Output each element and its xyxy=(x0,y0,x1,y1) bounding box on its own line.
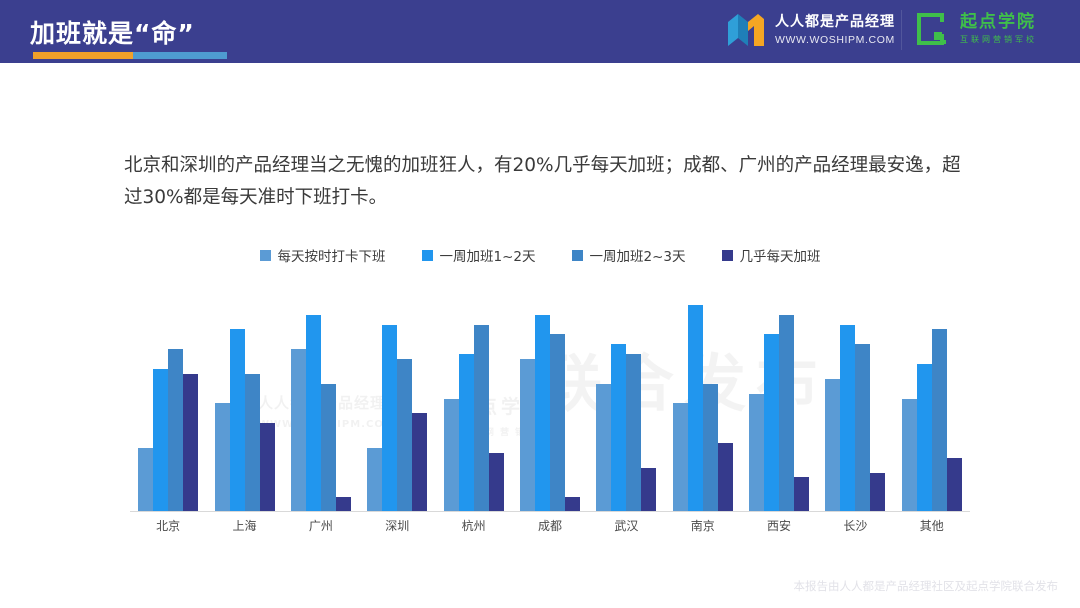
bar[interactable] xyxy=(306,315,321,512)
bar[interactable] xyxy=(291,349,306,512)
bar[interactable] xyxy=(673,403,688,512)
category-label-2: 广州 xyxy=(283,517,359,534)
legend-label: 几乎每天加班 xyxy=(740,245,821,265)
category-label-4: 杭州 xyxy=(435,517,511,534)
bar-group-10 xyxy=(894,290,970,512)
bar[interactable] xyxy=(703,384,718,512)
bar[interactable] xyxy=(565,497,580,512)
bar[interactable] xyxy=(749,394,764,512)
chart-plot-area xyxy=(130,290,970,512)
bar[interactable] xyxy=(550,334,565,512)
woshipm-m-logo-icon xyxy=(726,10,766,50)
bar[interactable] xyxy=(794,477,809,512)
bar[interactable] xyxy=(459,354,474,512)
legend-swatch-icon xyxy=(572,250,583,261)
bar[interactable] xyxy=(260,423,275,512)
bar[interactable] xyxy=(840,325,855,512)
bar[interactable] xyxy=(688,305,703,512)
bar[interactable] xyxy=(520,359,535,512)
bar-group-3 xyxy=(359,290,435,512)
bar[interactable] xyxy=(489,453,504,512)
bar[interactable] xyxy=(641,468,656,512)
category-label-6: 武汉 xyxy=(588,517,664,534)
bar[interactable] xyxy=(412,413,427,512)
page-header: 加班就是“命” 人人都是产品经理 WWW.WOSHIPM.COM 起点学院 xyxy=(0,0,1080,63)
title-accent-blue xyxy=(133,52,227,59)
bar[interactable] xyxy=(902,399,917,512)
category-label-0: 北京 xyxy=(130,517,206,534)
bar[interactable] xyxy=(932,329,947,512)
legend-label: 一周加班2~3天 xyxy=(590,245,686,265)
bar[interactable] xyxy=(367,448,382,512)
bar[interactable] xyxy=(764,334,779,512)
legend-item-0[interactable]: 每天按时打卡下班 xyxy=(260,245,386,265)
qidian-logo-text: 起点学院 互联网营销军校 xyxy=(960,13,1037,44)
bar[interactable] xyxy=(153,369,168,512)
legend-label: 每天按时打卡下班 xyxy=(278,245,386,265)
bar-group-9 xyxy=(817,290,893,512)
legend-swatch-icon xyxy=(422,250,433,261)
bar[interactable] xyxy=(382,325,397,512)
bar-group-2 xyxy=(283,290,359,512)
bar[interactable] xyxy=(855,344,870,512)
bar[interactable] xyxy=(779,315,794,512)
overtime-bar-chart: 每天按时打卡下班一周加班1~2天一周加班2~3天几乎每天加班 北京上海广州深圳杭… xyxy=(0,245,1080,545)
category-label-1: 上海 xyxy=(206,517,282,534)
qidian-logo-name: 起点学院 xyxy=(960,12,1036,32)
category-label-5: 成都 xyxy=(512,517,588,534)
bar[interactable] xyxy=(397,359,412,512)
category-label-8: 西安 xyxy=(741,517,817,534)
bar[interactable] xyxy=(168,349,183,512)
chart-bar-groups xyxy=(130,290,970,512)
chart-x-axis-line xyxy=(130,511,970,512)
bar[interactable] xyxy=(444,399,459,512)
qidian-q-logo-icon xyxy=(914,10,952,48)
chart-legend: 每天按时打卡下班一周加班1~2天一周加班2~3天几乎每天加班 xyxy=(0,245,1080,265)
page-title: 加班就是“命” xyxy=(30,14,195,50)
bar[interactable] xyxy=(183,374,198,512)
woshipm-logo-text: 人人都是产品经理 WWW.WOSHIPM.COM xyxy=(775,13,895,46)
bar[interactable] xyxy=(215,403,230,512)
legend-item-3[interactable]: 几乎每天加班 xyxy=(722,245,821,265)
legend-item-1[interactable]: 一周加班1~2天 xyxy=(422,245,536,265)
summary-paragraph: 北京和深圳的产品经理当之无愧的加班狂人，有20%几乎每天加班；成都、广州的产品经… xyxy=(124,150,964,215)
bar[interactable] xyxy=(947,458,962,512)
woshipm-logo-name: 人人都是产品经理 xyxy=(775,14,895,30)
bar[interactable] xyxy=(718,443,733,512)
bar-group-5 xyxy=(512,290,588,512)
logo-divider xyxy=(901,10,902,50)
legend-label: 一周加班1~2天 xyxy=(440,245,536,265)
legend-item-2[interactable]: 一周加班2~3天 xyxy=(572,245,686,265)
bar[interactable] xyxy=(626,354,641,512)
qidian-logo: 起点学院 互联网营销军校 xyxy=(914,10,1037,48)
category-label-3: 深圳 xyxy=(359,517,435,534)
category-label-9: 长沙 xyxy=(817,517,893,534)
bar-group-8 xyxy=(741,290,817,512)
bar[interactable] xyxy=(336,497,351,512)
qidian-logo-subtitle: 互联网营销军校 xyxy=(960,36,1037,45)
legend-swatch-icon xyxy=(260,250,271,261)
bar[interactable] xyxy=(596,384,611,512)
bar-group-7 xyxy=(665,290,741,512)
footer-note: 本报告由人人都是产品经理社区及起点学院联合发布 xyxy=(794,578,1059,594)
bar-group-1 xyxy=(206,290,282,512)
bar[interactable] xyxy=(535,315,550,512)
bar[interactable] xyxy=(825,379,840,512)
bar[interactable] xyxy=(917,364,932,512)
woshipm-logo-url: WWW.WOSHIPM.COM xyxy=(775,35,895,47)
woshipm-logo: 人人都是产品经理 WWW.WOSHIPM.COM xyxy=(726,10,895,50)
bar[interactable] xyxy=(870,473,885,512)
category-label-7: 南京 xyxy=(665,517,741,534)
bar-group-0 xyxy=(130,290,206,512)
category-label-10: 其他 xyxy=(894,517,970,534)
chart-category-labels: 北京上海广州深圳杭州成都武汉南京西安长沙其他 xyxy=(130,517,970,534)
title-accent-orange xyxy=(33,52,133,59)
legend-swatch-icon xyxy=(722,250,733,261)
bar[interactable] xyxy=(611,344,626,512)
bar[interactable] xyxy=(138,448,153,512)
bar-group-4 xyxy=(435,290,511,512)
bar-group-6 xyxy=(588,290,664,512)
bar[interactable] xyxy=(321,384,336,512)
bar[interactable] xyxy=(230,329,245,512)
bar[interactable] xyxy=(474,325,489,512)
bar[interactable] xyxy=(245,374,260,512)
